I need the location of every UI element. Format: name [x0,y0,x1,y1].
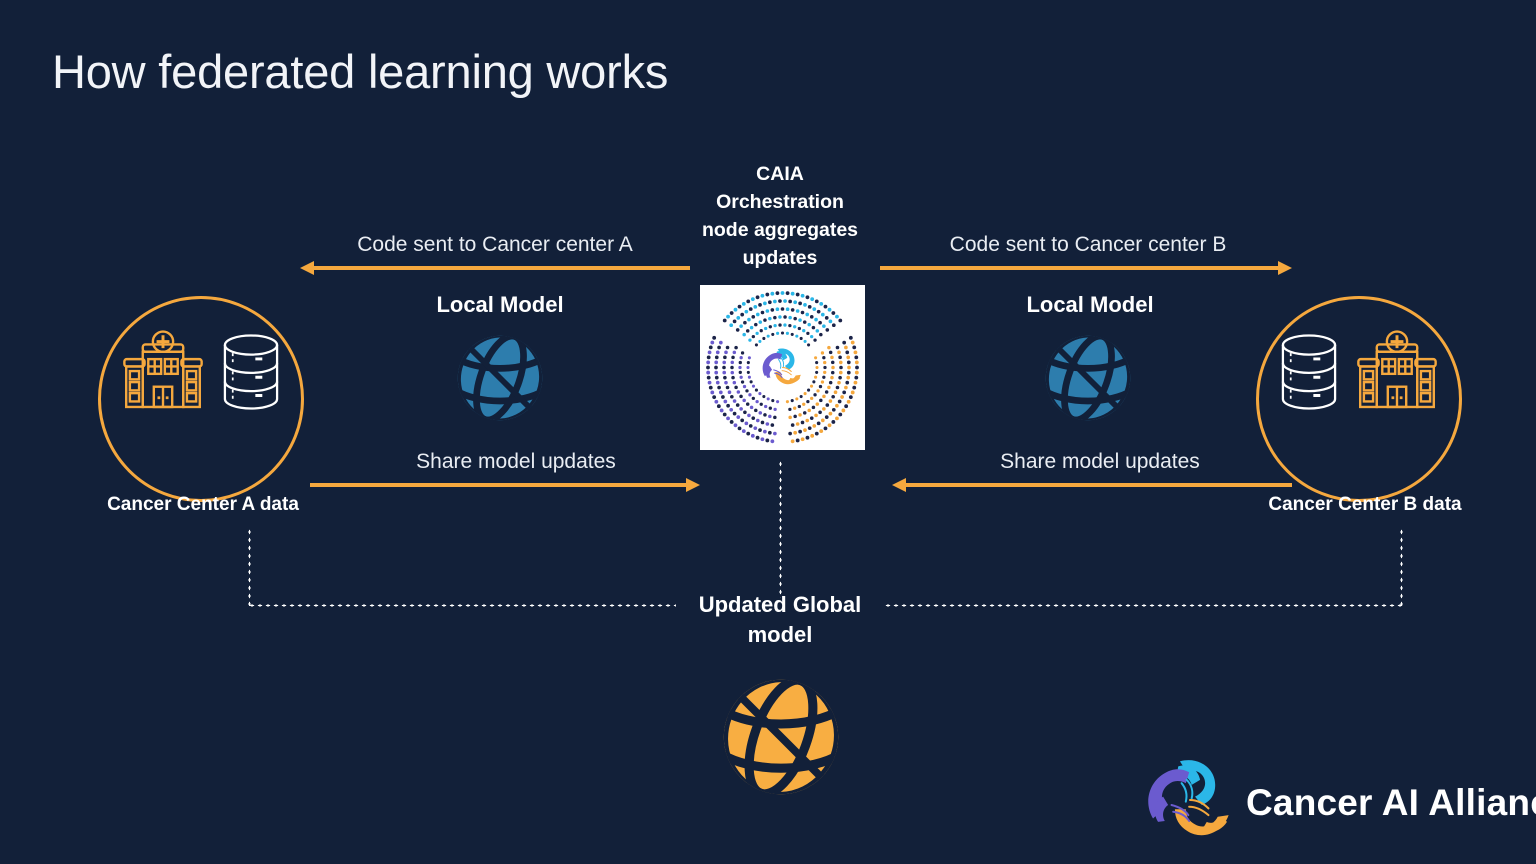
caia-dotted-hands-logo [700,285,865,450]
blue-globe-icon [452,330,548,426]
blue-globe-icon [1040,330,1136,426]
share-from-a-label: Share model updates [316,450,716,474]
page-title: How federated learning works [52,44,668,99]
center-caption-line-3: node aggregates [680,216,880,244]
center-caption-line-2: Orchestration [680,188,880,216]
orange-globe-icon [716,672,846,802]
share-from-b-arrow [892,475,1292,497]
brand-footer: Cancer AI Alliance [1148,758,1536,847]
share-from-a-arrow [310,475,700,497]
code-to-a-label: Code sent to Cancer center A [300,233,690,257]
center-node-caption: CAIA Orchestration node aggregates updat… [680,160,880,272]
cancer-center-b-icons [1264,318,1452,430]
center-caption-line-1: CAIA [680,160,880,188]
three-hands-logo [1148,758,1232,847]
global-model-label-line-1: Updated Global [670,592,890,618]
hospital-icon [117,326,209,423]
brand-name: Cancer AI Alliance [1246,782,1536,824]
dotted-line-b-vertical [1400,528,1403,606]
dotted-line-a-vertical [248,528,251,606]
cancer-center-a-icons [108,318,296,430]
dotted-line-b-horizontal [884,604,1403,607]
share-from-b-label: Share model updates [900,450,1300,474]
dotted-line-center-to-global [779,460,782,598]
database-icon [215,332,287,417]
global-model-label-line-2: model [670,622,890,648]
center-caption-line-4: updates [680,244,880,272]
hospital-icon [1351,326,1443,423]
local-model-b-label: Local Model [990,292,1190,318]
code-to-a-arrow [300,258,690,280]
dotted-line-a-horizontal [248,604,676,607]
code-to-b-arrow [880,258,1292,280]
cancer-center-a-label: Cancer Center A data [50,494,356,516]
code-to-b-label: Code sent to Cancer center B [884,233,1292,257]
cancer-center-b-label: Cancer Center B data [1212,494,1518,516]
local-model-a-label: Local Model [400,292,600,318]
database-icon [1273,332,1345,417]
slide-canvas: How federated learning works CAIA Orches… [0,0,1536,864]
